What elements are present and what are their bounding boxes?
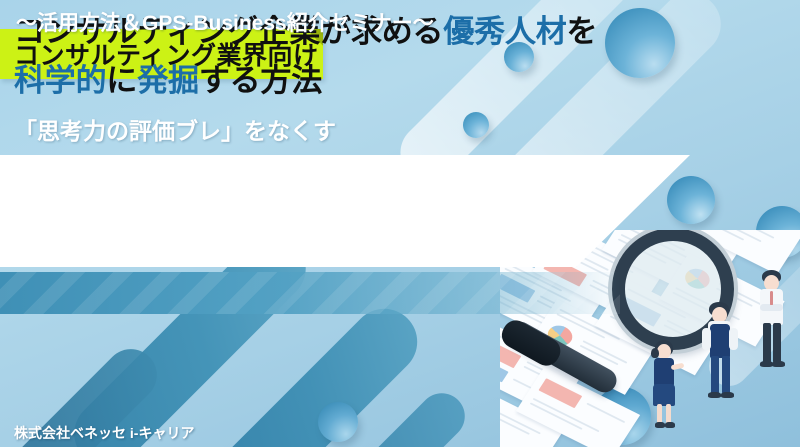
decorative-circle-3 [463,112,489,138]
tie [770,291,773,305]
leg [666,404,671,424]
leg [773,323,781,363]
title-segment: に [106,63,137,98]
decorative-circle-4 [667,176,715,224]
head [657,344,671,359]
shoe [655,422,665,428]
seminar-banner-slide: コンサルティング業界向け 「思考力の評価ブレ」をなくす コンサルティング企業が求… [0,0,800,447]
arm [702,328,711,350]
title-segment: を [567,14,598,49]
leg [722,356,730,394]
subtitle-text: 「思考力の評価ブレ」をなくす [14,112,336,146]
title-segment-highlight: 発掘 [137,63,199,98]
title-segment: する方法 [199,63,322,98]
leg [711,356,719,394]
leg [763,323,771,363]
title-line-2: 科学的に発掘する方法 [14,56,597,105]
arm [729,328,738,350]
shoe [721,392,734,398]
shoe [772,361,785,367]
arm-folded [760,304,783,311]
seminar-subtitle-text: ～活用方法＆GPS-Business紹介セミナー～ [16,7,434,37]
seminar-subtitle-band [0,272,620,314]
shoe [665,422,675,428]
shoe [708,392,721,398]
vest [710,324,730,358]
torso [654,358,674,386]
title-segment-highlight: 優秀人材 [443,14,566,49]
title-segment-highlight: 科学的 [14,63,106,98]
hair-bun [651,348,659,358]
company-footer: 株式会社ベネッセ i-キャリア [14,423,194,443]
decorative-circle-7 [318,402,358,442]
decorative-circle-1 [605,8,675,78]
skirt [653,384,675,406]
leg [657,404,662,424]
title-white-block [0,155,690,267]
